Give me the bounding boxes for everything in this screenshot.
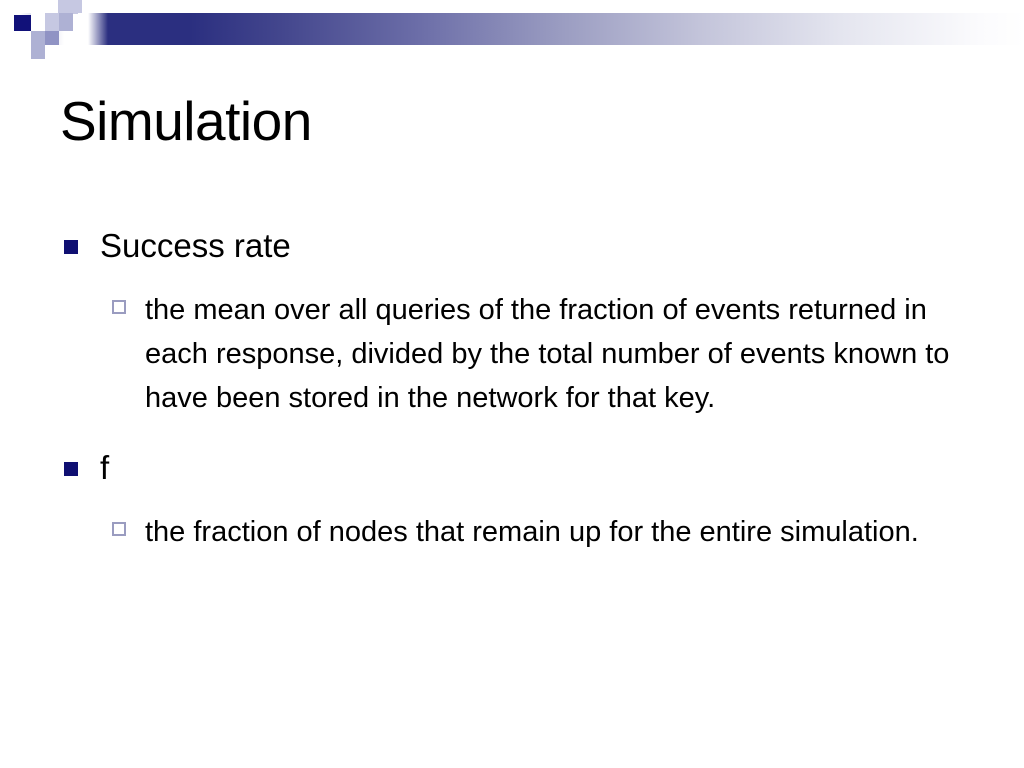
slide-body: Success rate the mean over all queries o… bbox=[60, 224, 980, 554]
spacer-2 bbox=[60, 420, 980, 446]
slide-title: Simulation bbox=[60, 88, 312, 154]
filled-square-bullet-icon bbox=[64, 240, 78, 254]
hollow-square-bullet-icon bbox=[112, 522, 126, 536]
deco-square-white-2 bbox=[0, 31, 31, 45]
bullet-level2-label: the fraction of nodes that remain up for… bbox=[145, 510, 975, 554]
deco-square-e bbox=[59, 0, 73, 13]
presentation-slide: Simulation Success rate the mean over al… bbox=[0, 0, 1024, 768]
bullet-level2-success-rate-detail: the mean over all queries of the fractio… bbox=[60, 288, 975, 420]
bullet-level1-label: f bbox=[100, 449, 109, 486]
deco-square-white-1 bbox=[31, 13, 45, 32]
filled-square-bullet-icon bbox=[64, 462, 78, 476]
decorative-header bbox=[0, 0, 1024, 72]
deco-square-h bbox=[31, 45, 45, 59]
spacer-3 bbox=[60, 492, 980, 510]
bullet-level2-label: the mean over all queries of the fractio… bbox=[145, 288, 975, 420]
bullet-level1-f: f bbox=[60, 446, 980, 490]
deco-square-f bbox=[31, 31, 45, 45]
deco-square-g bbox=[45, 31, 59, 45]
header-gradient-bar bbox=[0, 13, 1024, 45]
deco-square-white-4 bbox=[0, 13, 14, 31]
deco-square-i bbox=[73, 0, 82, 13]
bullet-level1-success-rate: Success rate bbox=[60, 224, 980, 268]
deco-square-d bbox=[59, 13, 73, 31]
spacer-1 bbox=[60, 270, 980, 288]
deco-square-c bbox=[45, 13, 59, 31]
hollow-square-bullet-icon bbox=[112, 300, 126, 314]
bullet-level1-label: Success rate bbox=[100, 227, 291, 264]
bullet-level2-f-detail: the fraction of nodes that remain up for… bbox=[60, 510, 975, 554]
deco-square-navy bbox=[14, 15, 31, 31]
